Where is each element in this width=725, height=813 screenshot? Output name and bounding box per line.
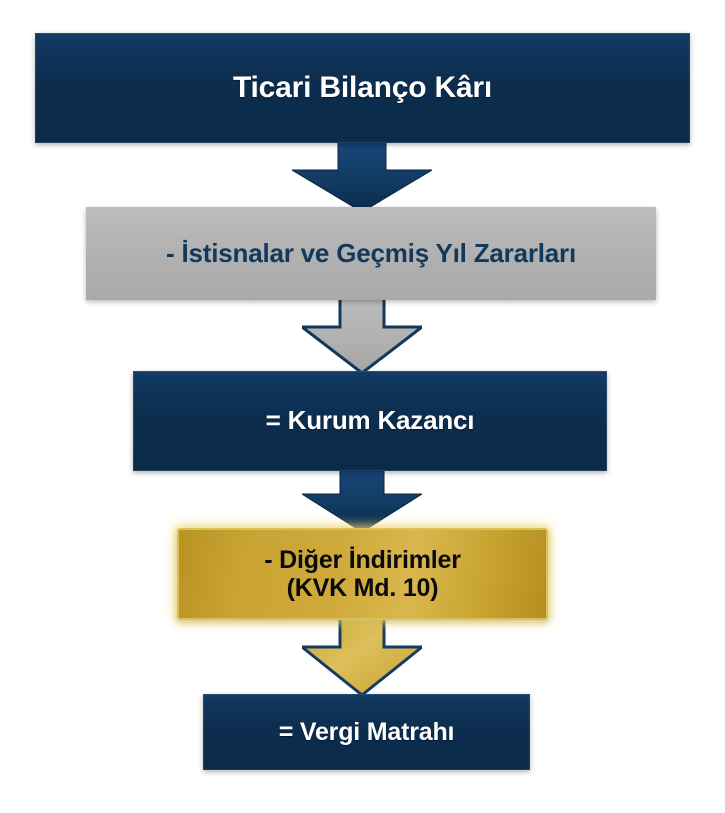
flow-arrow-down-navy-1: [292, 140, 432, 212]
flow-arrow-down-gray-2: [302, 297, 422, 373]
flow-node-vergi-matrahi[interactable]: = Vergi Matrahı: [203, 694, 530, 770]
flow-arrow-down-gold-4: [302, 617, 422, 695]
flow-node-label: - İstisnalar ve Geçmiş Yıl Zararları: [86, 239, 656, 268]
flow-arrow-down-navy-3: [302, 468, 422, 532]
flow-node-label: = Vergi Matrahı: [203, 718, 530, 746]
flow-node-label: - Diğer İndirimler (KVK Md. 10): [179, 546, 546, 602]
flow-node-kurum-kazanci[interactable]: = Kurum Kazancı: [133, 371, 607, 471]
flow-node-label: Ticari Bilanço Kârı: [35, 71, 690, 105]
flowchart-canvas: Ticari Bilanço Kârı - İstisnalar ve Geçm…: [0, 0, 725, 813]
flow-node-ticari-bilanco-kari[interactable]: Ticari Bilanço Kârı: [35, 33, 690, 143]
flow-node-diger-indirimler[interactable]: - Diğer İndirimler (KVK Md. 10): [177, 528, 548, 620]
flow-node-istisnalar-gecmis-yil-zararlari[interactable]: - İstisnalar ve Geçmiş Yıl Zararları: [86, 207, 656, 300]
flow-node-label: = Kurum Kazancı: [133, 406, 607, 435]
